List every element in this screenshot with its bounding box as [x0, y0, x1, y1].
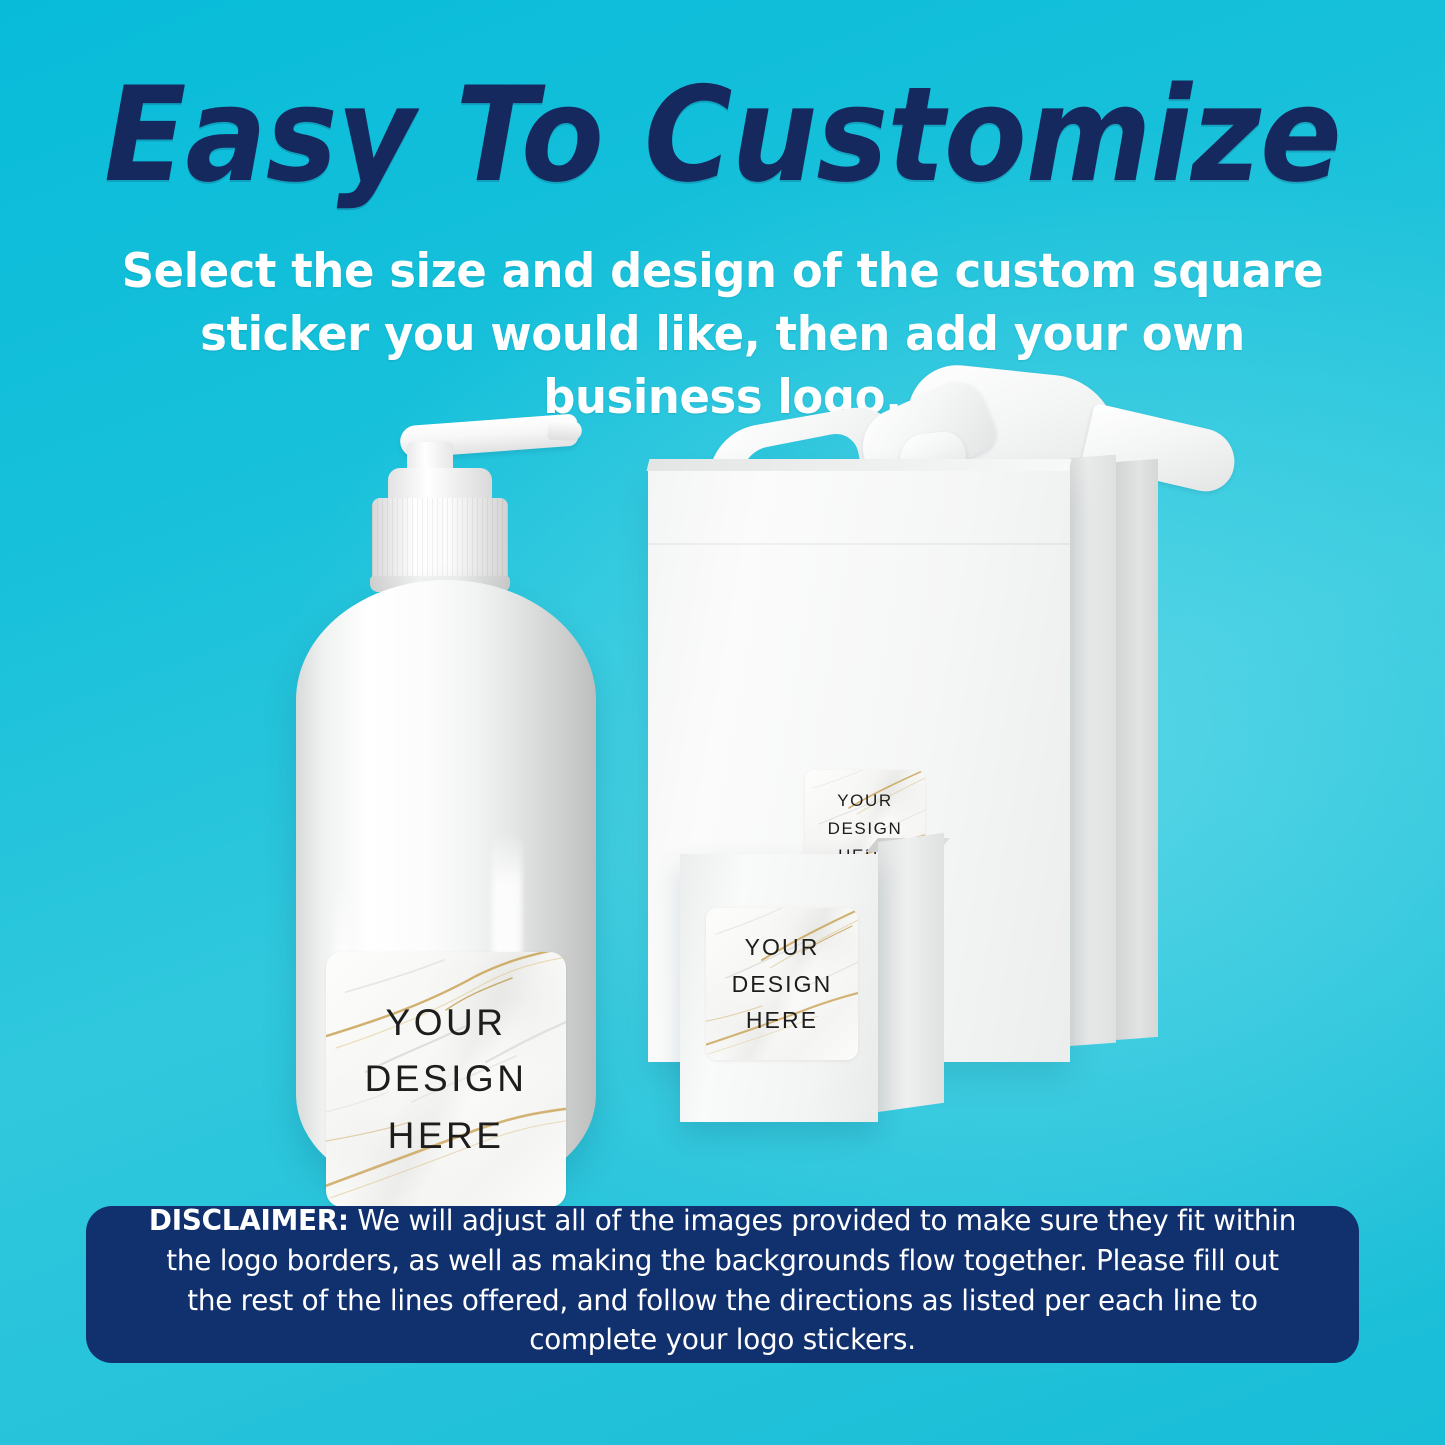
marble-veins: [706, 908, 858, 1060]
pump-ribbed-collar: [372, 498, 508, 584]
small-box-side-panel: [878, 833, 944, 1112]
small-box-marble-sticker: YOUR DESIGN HERE: [706, 908, 858, 1060]
promo-banner: Easy To Customize Select the size and de…: [0, 0, 1445, 1445]
page-title: Easy To Customize: [58, 68, 1387, 202]
pump-bottle: YOUR DESIGN HERE: [296, 420, 596, 1190]
bottle-body: YOUR DESIGN HERE: [296, 580, 596, 1190]
marble-veins: [326, 952, 566, 1207]
disclaimer-label: DISCLAIMER:: [149, 1204, 349, 1237]
gift-box-lid-line: [648, 543, 1070, 545]
gift-box-lid-edge: [647, 459, 1072, 471]
gift-box-back-panel: [1116, 459, 1158, 1040]
disclaimer-text: DISCLAIMER: We will adjust all of the im…: [143, 1201, 1302, 1361]
disclaimer-panel: DISCLAIMER: We will adjust all of the im…: [86, 1206, 1359, 1363]
small-box: YOUR DESIGN HERE: [680, 842, 952, 1132]
bottle-marble-sticker: YOUR DESIGN HERE: [326, 952, 566, 1207]
product-mockup-scene: YOUR DESIGN HERE: [0, 380, 1445, 1210]
gift-box-side-panel: [1070, 455, 1116, 1046]
